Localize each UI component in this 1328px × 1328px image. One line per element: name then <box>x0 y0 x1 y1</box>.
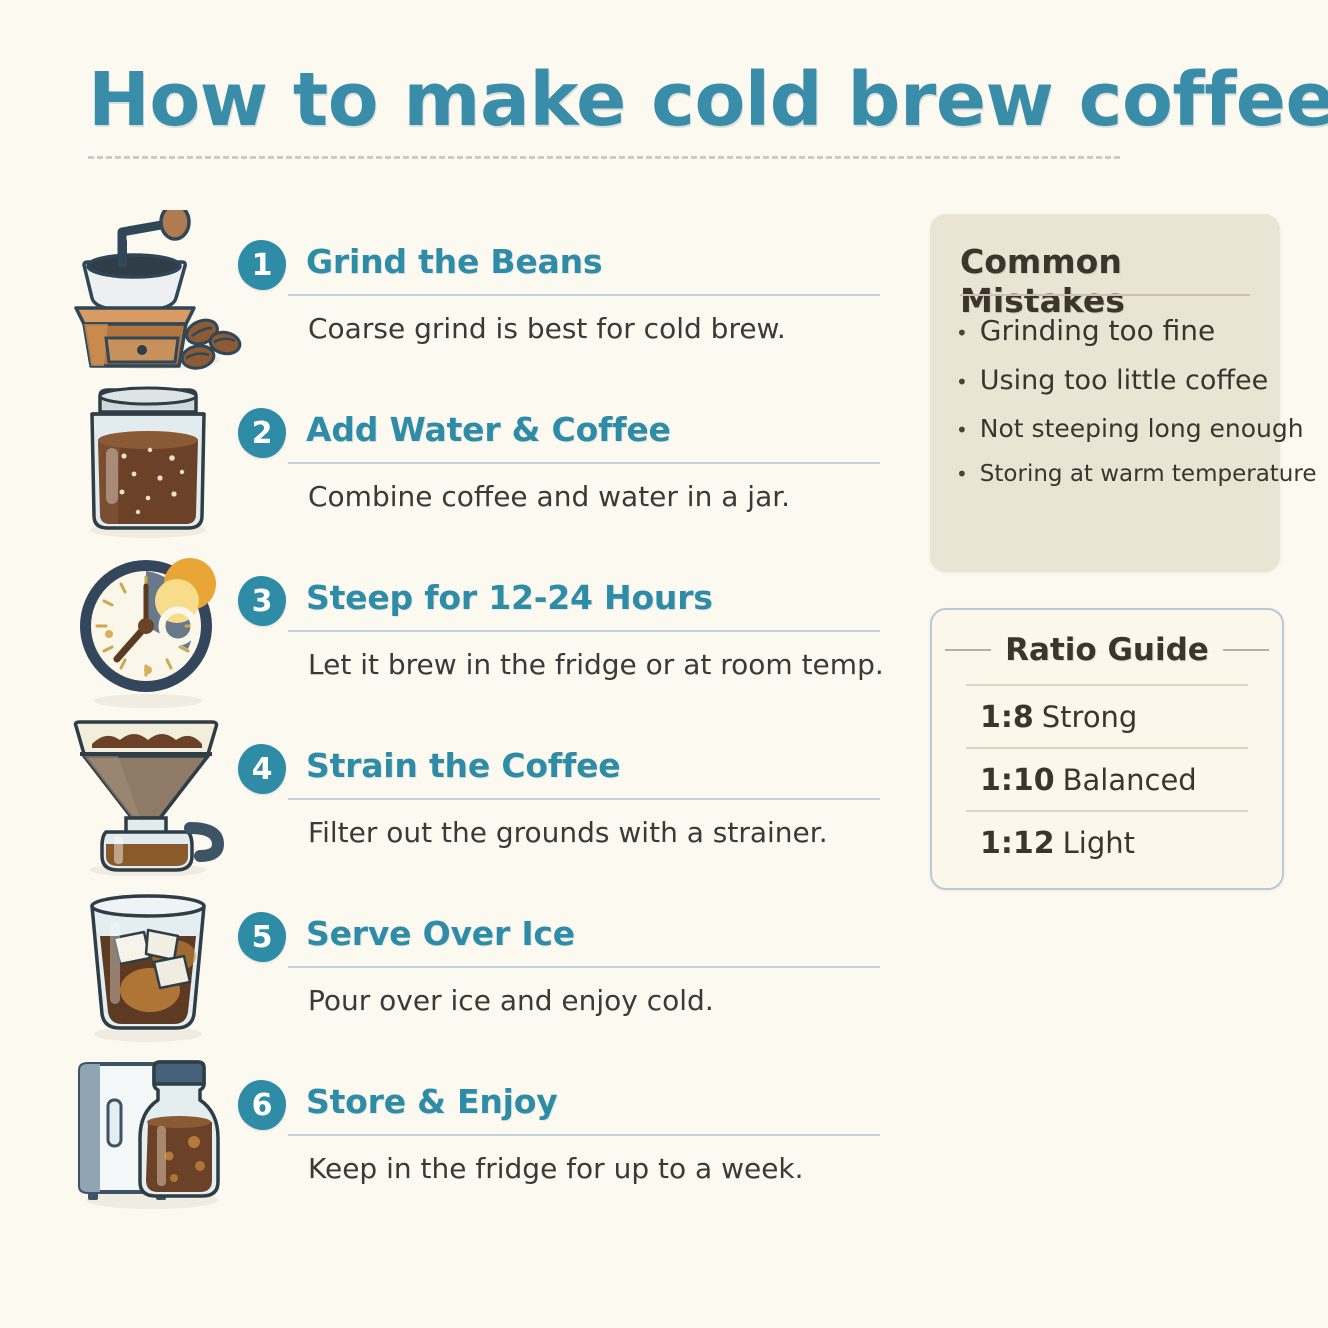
table-row: 1:8Strong <box>966 684 1248 747</box>
step-heading: Grind the Beans <box>306 242 602 281</box>
coffee-jar-icon <box>62 378 242 540</box>
step-description: Let it brew in the fridge or at room tem… <box>308 648 884 681</box>
bullet-icon: • <box>956 420 968 440</box>
pour-over-dripper-icon <box>62 714 242 876</box>
list-item: • Not steeping long enough <box>956 414 1266 443</box>
ratio-guide-title: Ratio Guide <box>1005 632 1209 668</box>
list-item: • Storing at warm temperature <box>956 461 1266 487</box>
header-dash-right <box>1223 649 1269 651</box>
clock-icon <box>62 546 242 708</box>
step-heading: Add Water & Coffee <box>306 410 671 449</box>
steps-list: 1 Grind the Beans Coarse grind is best f… <box>0 208 900 1216</box>
step-description: Keep in the fridge for up to a week. <box>308 1152 804 1185</box>
step-heading: Strain the Coffee <box>306 746 620 785</box>
step-number-badge: 4 <box>238 744 286 794</box>
common-mistakes-divider <box>960 294 1250 296</box>
ratio-guide-panel: Ratio Guide 1:8Strong 1:10Balanced 1:12L… <box>930 608 1284 890</box>
ratio-value: 1:10 <box>980 763 1055 798</box>
ratio-label: Balanced <box>1063 763 1197 797</box>
common-mistakes-panel: Common Mistakes • Grinding too fine • Us… <box>930 214 1280 572</box>
ratio-guide-rows: 1:8Strong 1:10Balanced 1:12Light <box>966 684 1248 873</box>
ratio-value: 1:12 <box>980 826 1055 861</box>
list-item-label: Storing at warm temperature <box>980 461 1317 487</box>
title-divider <box>88 156 1120 159</box>
step-divider <box>288 966 880 968</box>
step-number-badge: 5 <box>238 912 286 962</box>
step-heading: Steep for 12-24 Hours <box>306 578 713 617</box>
list-item: • Using too little coffee <box>956 365 1266 396</box>
step-description: Filter out the grounds with a strainer. <box>308 816 828 849</box>
ratio-label: Strong <box>1042 700 1138 734</box>
step-heading: Store & Enjoy <box>306 1082 558 1121</box>
bullet-icon: • <box>956 372 968 392</box>
ratio-label: Light <box>1063 826 1135 860</box>
step-description: Coarse grind is best for cold brew. <box>308 312 786 345</box>
step-description: Combine coffee and water in a jar. <box>308 480 790 513</box>
header: How to make cold brew coffee <box>88 62 1238 159</box>
step-number-badge: 3 <box>238 576 286 626</box>
header-dash-left <box>945 649 991 651</box>
step-number-badge: 6 <box>238 1080 286 1130</box>
step-item: 1 Grind the Beans Coarse grind is best f… <box>0 208 900 376</box>
step-item: 2 Add Water & Coffee Combine coffee and … <box>0 376 900 544</box>
bullet-icon: • <box>956 464 968 484</box>
list-item-label: Not steeping long enough <box>980 414 1304 443</box>
step-number-badge: 1 <box>238 240 286 290</box>
step-divider <box>288 798 880 800</box>
step-divider <box>288 630 880 632</box>
step-divider <box>288 294 880 296</box>
page-title: How to make cold brew coffee <box>88 62 1238 140</box>
ratio-value: 1:8 <box>980 700 1034 735</box>
step-heading: Serve Over Ice <box>306 914 575 953</box>
step-divider <box>288 1134 880 1136</box>
step-item: 6 Store & Enjoy Keep in the fridge for u… <box>0 1048 900 1216</box>
ratio-guide-header: Ratio Guide <box>932 632 1282 668</box>
infographic-page: How to make cold brew coffee <box>0 0 1328 1328</box>
step-item: 4 Strain the Coffee Filter out the groun… <box>0 712 900 880</box>
fridge-bottle-icon <box>62 1050 242 1212</box>
common-mistakes-list: • Grinding too fine • Using too little c… <box>956 314 1266 505</box>
list-item: • Grinding too fine <box>956 314 1266 347</box>
step-item: 3 Steep for 12-24 Hours Let it brew in t… <box>0 544 900 712</box>
table-row: 1:12Light <box>966 810 1248 873</box>
step-item: 5 Serve Over Ice Pour over ice and enjoy… <box>0 880 900 1048</box>
coffee-grinder-icon <box>62 210 242 372</box>
step-description: Pour over ice and enjoy cold. <box>308 984 714 1017</box>
iced-coffee-glass-icon <box>62 882 242 1044</box>
bullet-icon: • <box>956 323 968 343</box>
table-row: 1:10Balanced <box>966 747 1248 810</box>
step-number-badge: 2 <box>238 408 286 458</box>
list-item-label: Using too little coffee <box>980 365 1268 396</box>
list-item-label: Grinding too fine <box>980 314 1215 347</box>
common-mistakes-title: Common Mistakes <box>960 242 1280 320</box>
step-divider <box>288 462 880 464</box>
